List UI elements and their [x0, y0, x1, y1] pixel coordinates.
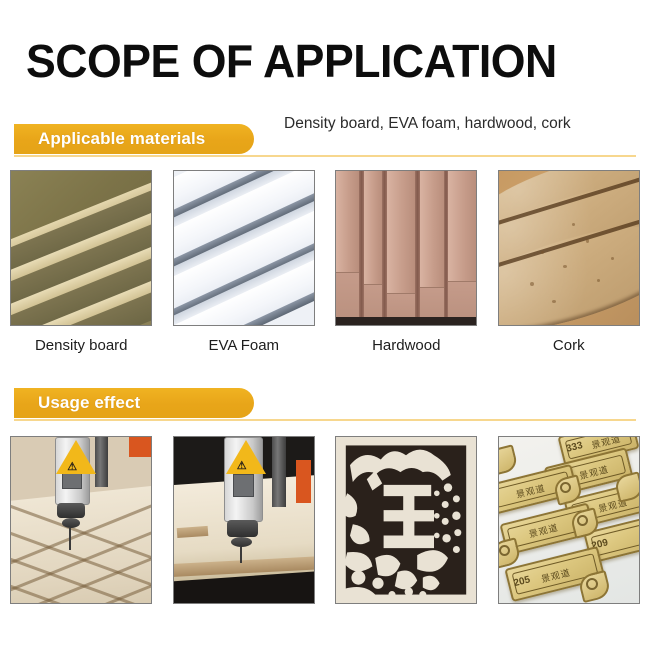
papercut-svg	[336, 437, 476, 603]
materials-grid: Density board EVA Foam	[0, 170, 650, 354]
cork-caption: Cork	[553, 337, 585, 354]
density-board-image	[10, 170, 152, 326]
usage-card-number-plates: 333 景观道 202 景观道 203 景观道	[488, 436, 650, 604]
badge-label: Applicable materials	[38, 129, 205, 149]
material-card-hardwood: Hardwood	[325, 170, 488, 354]
density-board-caption: Density board	[35, 337, 128, 354]
badge-label: Usage effect	[38, 393, 140, 413]
material-card-density-board: Density board	[0, 170, 163, 354]
usage-card-cnc-diamond: ⚠	[0, 436, 163, 604]
papercut-fu-image	[335, 436, 477, 604]
usage-card-papercut	[325, 436, 488, 604]
header-divider-rule	[14, 155, 636, 157]
engraved-number-plates-image: 333 景观道 202 景观道 203 景观道	[498, 436, 640, 604]
poster-root: SCOPE OF APPLICATION Applicable material…	[0, 0, 650, 650]
header-divider-rule	[14, 419, 636, 421]
page-title: SCOPE OF APPLICATION	[26, 38, 557, 84]
cnc-diamond-carving-image: ⚠	[10, 436, 152, 604]
usage-card-cnc-edge: ⚠	[163, 436, 326, 604]
usage-effect-grid: ⚠	[0, 436, 650, 604]
eva-foam-image	[173, 170, 315, 326]
hardwood-caption: Hardwood	[372, 337, 440, 354]
cnc-board-cutting-image: ⚠	[173, 436, 315, 604]
materials-note: Density board, EVA foam, hardwood, cork	[284, 115, 571, 133]
hardwood-image	[335, 170, 477, 326]
eva-foam-caption: EVA Foam	[208, 337, 279, 354]
badge-applicable-materials: Applicable materials	[14, 124, 254, 154]
material-card-eva-foam: EVA Foam	[163, 170, 326, 354]
material-card-cork: Cork	[488, 170, 650, 354]
badge-usage-effect: Usage effect	[14, 388, 254, 418]
cork-image	[498, 170, 640, 326]
